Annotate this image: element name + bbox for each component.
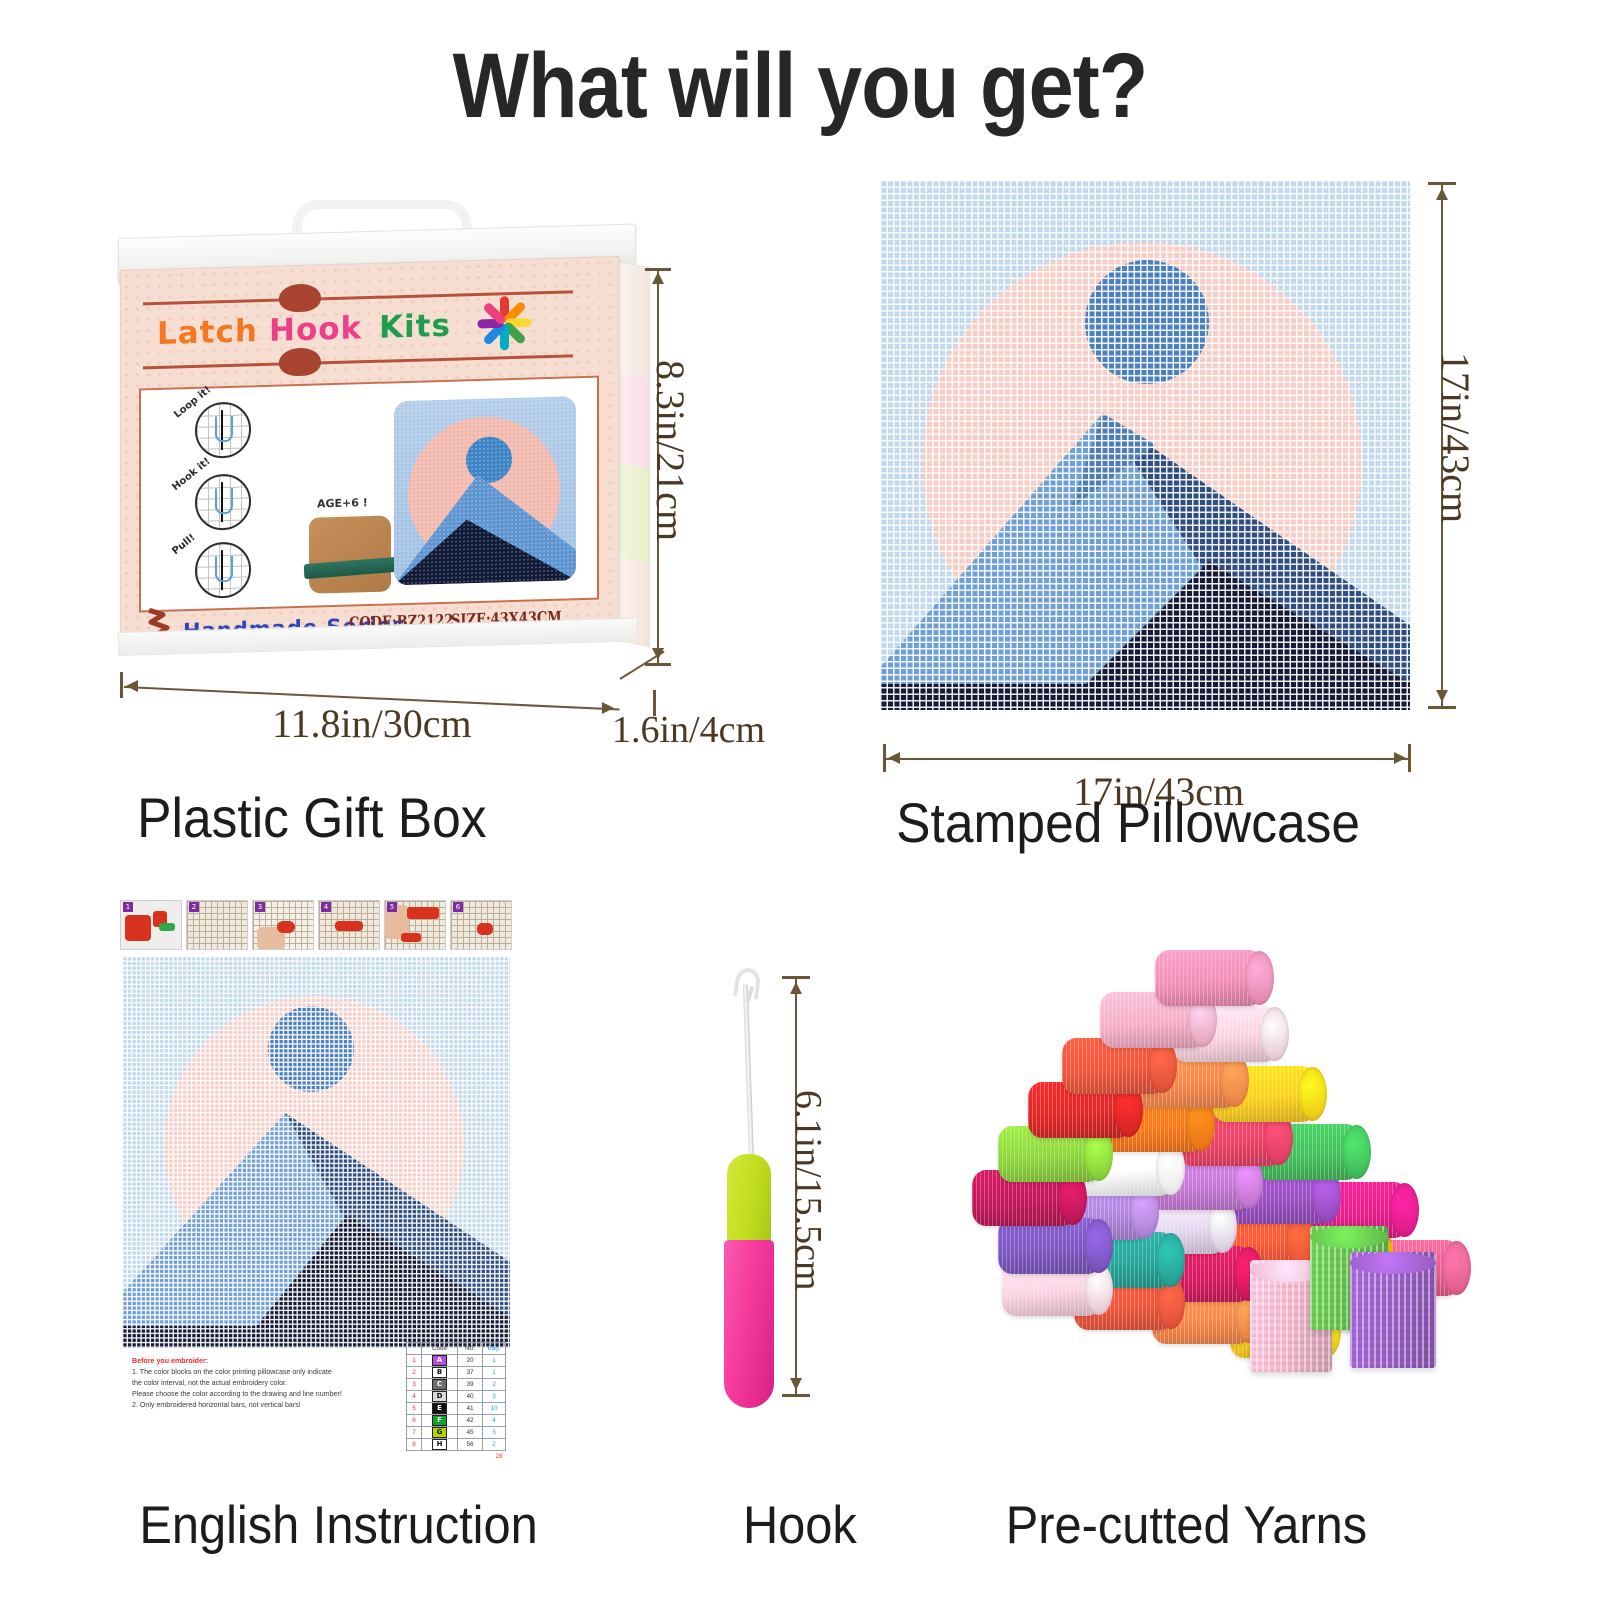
cell-index: 8 <box>407 1439 422 1451</box>
cell-bag: 5 <box>483 1427 506 1439</box>
color-swatch: F <box>432 1415 447 1426</box>
yarn-end-cap <box>1442 1241 1471 1295</box>
cushion-illustration <box>309 515 391 593</box>
cell-index: 2 <box>407 1367 422 1379</box>
gift-box-illustration-panel: Loop it! Hook it! Pull! AGE+6 ! <box>139 376 599 613</box>
caption-pre-cutted-yarns: Pre-cutted Yarns <box>1006 1495 1367 1556</box>
notice-line-2: the color interval, not the actual embro… <box>132 1378 402 1389</box>
page-title: What will you get? <box>96 34 1504 139</box>
cell-code: D <box>422 1391 458 1403</box>
yarn-end-cap <box>1260 1007 1289 1061</box>
cell-bag: 1 <box>483 1367 506 1379</box>
yarn-end-cap <box>1298 1067 1327 1121</box>
cell-index: 3 <box>407 1379 422 1391</box>
cell-no: 56 <box>458 1439 483 1451</box>
cell-code: B <box>422 1367 458 1379</box>
cell-index: 6 <box>407 1415 422 1427</box>
step-diagram-loop <box>195 401 251 459</box>
product-infographic: What will you get? Latch Hook Kits <box>0 0 1600 1600</box>
gift-box-side-panel <box>615 260 650 647</box>
stamped-pillowcase-image <box>880 180 1410 710</box>
table-row: 3C392 <box>407 1379 506 1391</box>
yarn-bundle-top <box>1310 1226 1388 1248</box>
gift-box-image: Latch Hook Kits Loop it! <box>118 208 648 668</box>
table-row: 7G455 <box>407 1427 506 1439</box>
step-diagram-pull <box>195 541 251 599</box>
hook-grip-upper <box>727 1154 771 1244</box>
table-row: 4D403 <box>407 1391 506 1403</box>
cell-bag: 1 <box>483 1355 506 1367</box>
cell-no: 20 <box>458 1355 483 1367</box>
table-row: 1A201 <box>407 1355 506 1367</box>
caption-stamped-pillowcase: Stamped Pillowcase <box>896 790 1360 855</box>
color-swatch: D <box>432 1391 447 1402</box>
cell-bag: 4 <box>483 1415 506 1427</box>
cell-total: 28 <box>407 1451 506 1463</box>
notice-line-1: 1. The color blocks on the color printin… <box>132 1367 402 1378</box>
color-swatch: A <box>432 1355 447 1366</box>
age-label: AGE+6 ! <box>317 496 368 510</box>
photo-badge-3: 3 <box>255 902 265 912</box>
gift-box-depth-label: 1.6in/4cm <box>612 708 765 752</box>
caption-plastic-gift-box: Plastic Gift Box <box>137 785 486 850</box>
table-row: 6F424 <box>407 1415 506 1427</box>
gift-box-width-label: 11.8in/30cm <box>272 700 472 747</box>
step-label-pull: Pull! <box>170 532 197 557</box>
instruction-photo-2: 2 <box>186 900 248 950</box>
cell-bag: 10 <box>483 1403 506 1415</box>
cell-index: 4 <box>407 1391 422 1403</box>
color-swatch: G <box>432 1427 447 1438</box>
cell-code: G <box>422 1427 458 1439</box>
hook-length-label: 6.1in/15.5cm <box>786 1090 830 1291</box>
th-index <box>407 1343 422 1355</box>
pinwheel-icon <box>473 291 535 355</box>
cell-code: C <box>422 1379 458 1391</box>
notice-title: Before you embroider: <box>132 1356 402 1367</box>
th-code: Code <box>422 1343 458 1355</box>
yarn-bundle-purple <box>1350 1252 1436 1368</box>
gift-box-height-label: 8.3in/21cm <box>647 360 694 541</box>
photo-badge-5: 5 <box>387 902 397 912</box>
cell-no: 42 <box>458 1415 483 1427</box>
notice-line-4: 2. Only embroidered horizontal bars, not… <box>132 1400 402 1411</box>
color-swatch: C <box>432 1379 447 1390</box>
yarn-end-cap <box>1245 951 1274 1005</box>
table-row: 2B371 <box>407 1367 506 1379</box>
notice-line-3: Please choose the color according to the… <box>132 1389 402 1400</box>
cell-index: 1 <box>407 1355 422 1367</box>
yarn-piece <box>1155 950 1263 1006</box>
photo-badge-1: 1 <box>123 902 133 912</box>
cell-code: H <box>422 1439 458 1451</box>
cell-no: 41 <box>458 1403 483 1415</box>
step-diagram-hook <box>195 473 251 531</box>
yarn-end-cap <box>1342 1125 1371 1179</box>
photo-badge-4: 4 <box>321 902 331 912</box>
instruction-notice: Before you embroider: 1. The color block… <box>132 1356 402 1411</box>
photo-badge-2: 2 <box>189 902 199 912</box>
caption-english-instruction: English Instruction <box>139 1495 537 1556</box>
cell-index: 5 <box>407 1403 422 1415</box>
yarn-end-cap <box>1390 1183 1419 1237</box>
hook-image <box>716 962 786 1417</box>
finished-pillow-photo <box>394 396 576 585</box>
cell-code: E <box>422 1403 458 1415</box>
table-total-row: 28 <box>407 1451 506 1463</box>
color-swatch: E <box>432 1403 447 1414</box>
table-header-row: Code No. Bag. <box>407 1343 506 1355</box>
cell-no: 37 <box>458 1367 483 1379</box>
cell-no: 39 <box>458 1379 483 1391</box>
th-no: No. <box>458 1343 483 1355</box>
gift-box-front-face: Latch Hook Kits Loop it! <box>120 256 619 644</box>
instruction-photo-5: 5 <box>384 900 446 950</box>
table-row: 5E4110 <box>407 1403 506 1415</box>
color-swatch: B <box>432 1367 447 1378</box>
yarn-bundle-top <box>1350 1252 1436 1274</box>
instruction-photo-3: 3 <box>252 900 314 950</box>
brand-word-kits: Kits <box>379 308 451 346</box>
cell-bag: 2 <box>483 1379 506 1391</box>
instruction-canvas-art <box>122 956 510 1348</box>
brand-word-hook: Hook <box>269 310 362 349</box>
cell-bag: 2 <box>483 1439 506 1451</box>
instruction-photo-strip: 1 2 3 4 <box>120 900 512 948</box>
yarn-end-cap <box>1084 1219 1113 1273</box>
color-swatch: H <box>432 1439 447 1450</box>
hook-needle <box>743 984 754 1164</box>
cell-no: 45 <box>458 1427 483 1439</box>
pillowcase-height-label: 17in/43cm <box>1432 352 1479 523</box>
instruction-photo-6: 6 <box>450 900 512 950</box>
color-code-table: Code No. Bag. 1A2012B3713C3924D4035E4110… <box>406 1342 506 1462</box>
instruction-photo-1: 1 <box>120 900 182 950</box>
brand-word-latch: Latch <box>157 313 258 352</box>
photo-badge-6: 6 <box>453 902 463 912</box>
yarn-pile-image <box>950 930 1470 1430</box>
cell-bag: 3 <box>483 1391 506 1403</box>
hook-grip-lower <box>724 1240 774 1408</box>
caption-hook: Hook <box>743 1495 857 1556</box>
yarn-piece <box>998 1218 1102 1274</box>
yarn-end-cap <box>1156 1233 1185 1287</box>
cell-code: A <box>422 1355 458 1367</box>
instruction-photo-4: 4 <box>318 900 380 950</box>
cell-no: 40 <box>458 1391 483 1403</box>
cell-code: F <box>422 1415 458 1427</box>
th-bag: Bag. <box>483 1343 506 1355</box>
cell-index: 7 <box>407 1427 422 1439</box>
table-row: 8H562 <box>407 1439 506 1451</box>
instruction-sheet-image: 1 2 3 4 <box>120 890 512 1450</box>
